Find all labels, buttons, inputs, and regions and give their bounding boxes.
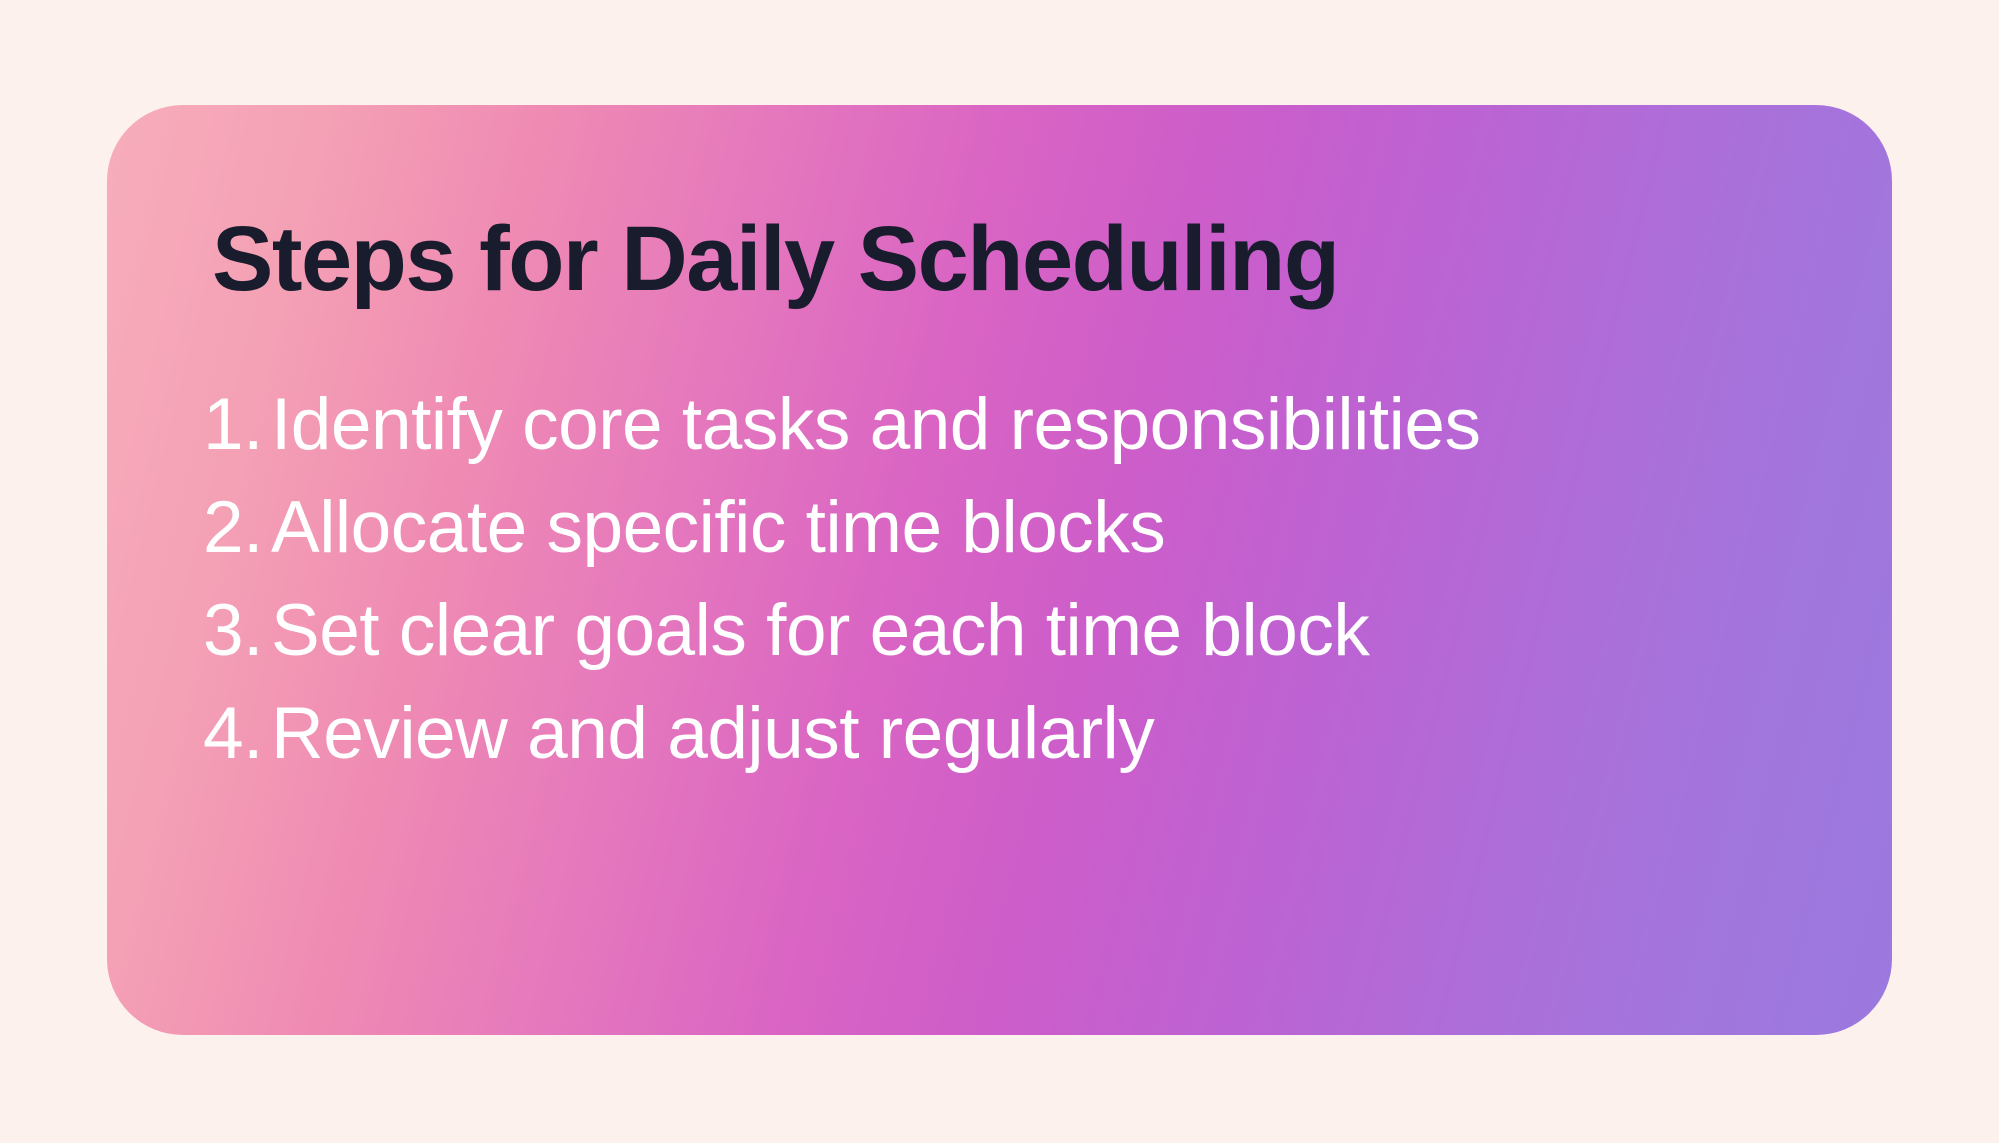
list-item: 4. Review and adjust regularly xyxy=(203,682,1803,785)
list-item-number: 2. xyxy=(203,476,271,579)
list-item: 2. Allocate specific time blocks xyxy=(203,476,1803,579)
list-item-label: Set clear goals for each time block xyxy=(271,579,1369,682)
gradient-card: Steps for Daily Scheduling 1. Identify c… xyxy=(107,105,1892,1035)
slide-canvas: Steps for Daily Scheduling 1. Identify c… xyxy=(0,0,1999,1143)
list-item-number: 4. xyxy=(203,682,271,785)
card-content: Steps for Daily Scheduling 1. Identify c… xyxy=(107,105,1892,1035)
steps-list: 1. Identify core tasks and responsibilit… xyxy=(203,373,1803,785)
list-item-number: 3. xyxy=(203,579,271,682)
page-title: Steps for Daily Scheduling xyxy=(212,213,1339,305)
list-item-label: Identify core tasks and responsibilities xyxy=(271,373,1480,476)
list-item-label: Allocate specific time blocks xyxy=(271,476,1165,579)
list-item-label: Review and adjust regularly xyxy=(271,682,1154,785)
list-item: 3. Set clear goals for each time block xyxy=(203,579,1803,682)
list-item: 1. Identify core tasks and responsibilit… xyxy=(203,373,1803,476)
list-item-number: 1. xyxy=(203,373,271,476)
